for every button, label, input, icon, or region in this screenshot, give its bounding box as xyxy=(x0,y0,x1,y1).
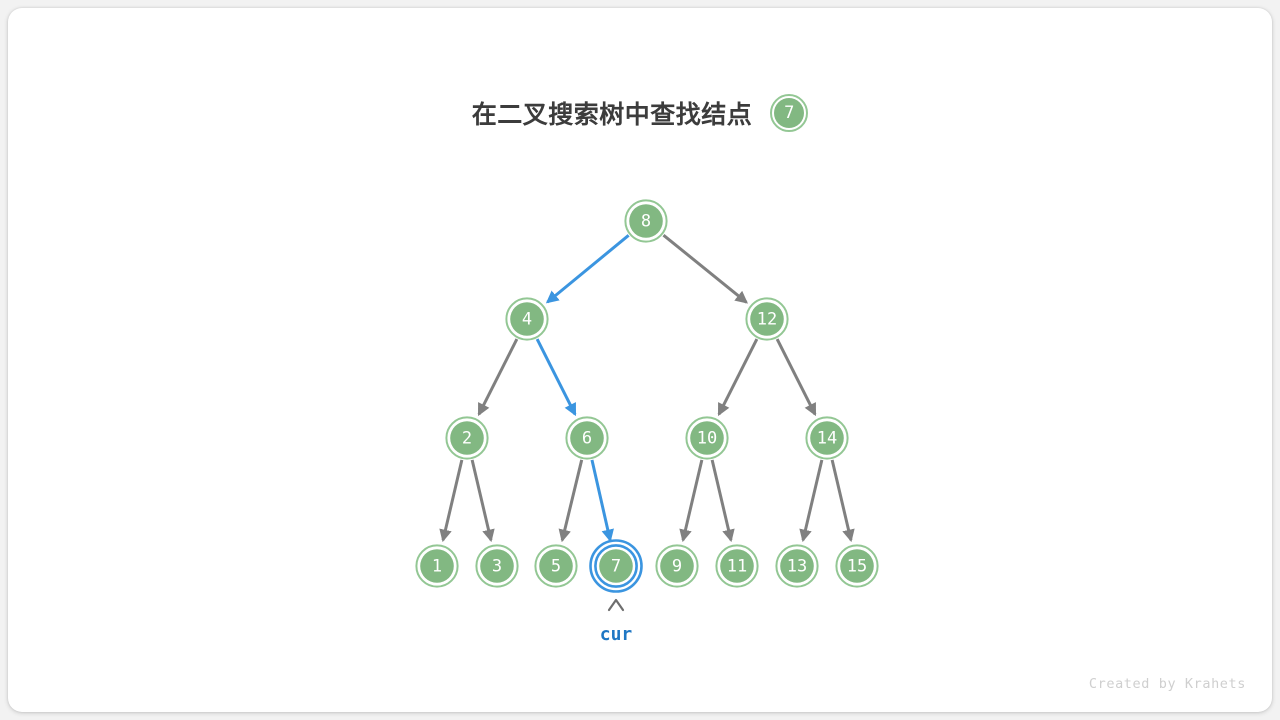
footer-credit: Created by Krahets xyxy=(1089,676,1246,692)
node-value-label: 4 xyxy=(522,310,532,330)
node-value-label: 7 xyxy=(611,557,621,577)
tree-edge-12-to-14 xyxy=(777,339,815,414)
tree-node-8: 8 xyxy=(625,200,666,241)
tree-edge-8-to-4 xyxy=(547,235,628,302)
tree-edge-12-to-10 xyxy=(719,339,757,414)
tree-node-11: 11 xyxy=(716,545,757,586)
tree-edge-6-to-5 xyxy=(562,460,581,540)
tree-edge-2-to-1 xyxy=(443,460,462,540)
tree-edge-10-to-11 xyxy=(712,460,731,540)
node-value-label: 3 xyxy=(492,557,502,577)
edge-layer xyxy=(443,235,851,540)
binary-search-tree-diagram: 841226101413579111315 cur xyxy=(8,8,1272,712)
tree-edge-14-to-15 xyxy=(832,460,851,540)
node-value-label: 13 xyxy=(787,557,807,577)
tree-edge-8-to-12 xyxy=(663,235,746,302)
tree-node-10: 10 xyxy=(686,417,727,458)
tree-edge-6-to-7 xyxy=(592,460,610,540)
tree-node-7: 7 xyxy=(591,541,642,592)
cur-pointer-group: cur xyxy=(600,600,633,645)
tree-node-9: 9 xyxy=(656,545,697,586)
node-value-label: 2 xyxy=(462,429,472,449)
tree-edge-4-to-6 xyxy=(537,339,575,414)
node-value-label: 12 xyxy=(757,310,777,330)
node-value-label: 14 xyxy=(817,429,837,449)
cur-pointer-label: cur xyxy=(600,624,633,645)
node-value-label: 1 xyxy=(432,557,442,577)
node-value-label: 15 xyxy=(847,557,867,577)
tree-node-15: 15 xyxy=(836,545,877,586)
screenshot-root: 在二叉搜索树中查找结点 7 841226101413579111315 xyxy=(0,0,1280,720)
tree-edge-10-to-9 xyxy=(683,460,702,540)
node-value-label: 10 xyxy=(697,429,717,449)
node-value-label: 6 xyxy=(582,429,592,449)
caret-up-icon xyxy=(609,600,623,610)
tree-node-3: 3 xyxy=(476,545,517,586)
tree-node-5: 5 xyxy=(535,545,576,586)
node-value-label: 8 xyxy=(641,212,651,232)
node-value-label: 11 xyxy=(727,557,747,577)
tree-edge-14-to-13 xyxy=(803,460,822,540)
tree-node-4: 4 xyxy=(506,298,547,339)
node-layer: 841226101413579111315 xyxy=(416,200,877,591)
tree-edge-2-to-3 xyxy=(472,460,491,540)
node-value-label: 5 xyxy=(551,557,561,577)
tree-edge-4-to-2 xyxy=(479,339,517,414)
tree-node-12: 12 xyxy=(746,298,787,339)
tree-node-1: 1 xyxy=(416,545,457,586)
tree-node-14: 14 xyxy=(806,417,847,458)
tree-node-6: 6 xyxy=(566,417,607,458)
diagram-card: 在二叉搜索树中查找结点 7 841226101413579111315 xyxy=(8,8,1272,712)
tree-node-2: 2 xyxy=(446,417,487,458)
tree-node-13: 13 xyxy=(776,545,817,586)
node-value-label: 9 xyxy=(672,557,682,577)
